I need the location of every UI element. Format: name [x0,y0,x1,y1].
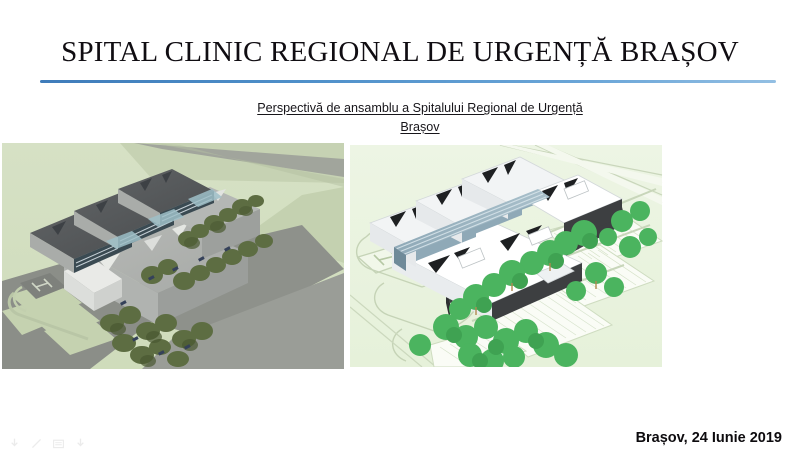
download-icon[interactable] [8,437,21,450]
render-image-left [2,143,344,369]
footer-date: Brașov, 24 Iunie 2019 [636,430,782,446]
page-title: SPITAL CLINIC REGIONAL DE URGENȚĂ BRAȘOV [0,36,800,69]
render-image-right [350,145,727,367]
watermark-toolbar [8,437,87,450]
list-icon[interactable] [52,437,65,450]
title-divider [40,80,776,83]
render-right-graphic [350,145,727,367]
figure-caption-line-2: Brașov [400,120,439,134]
figure-caption-line-1: Perspectivă de ansamblu a Spitalului Reg… [257,101,583,115]
figure-caption: Perspectivă de ansamblu a Spitalului Reg… [190,99,650,137]
download-icon-2[interactable] [74,437,87,450]
pen-icon[interactable] [30,437,43,450]
render-left-graphic [2,143,344,369]
